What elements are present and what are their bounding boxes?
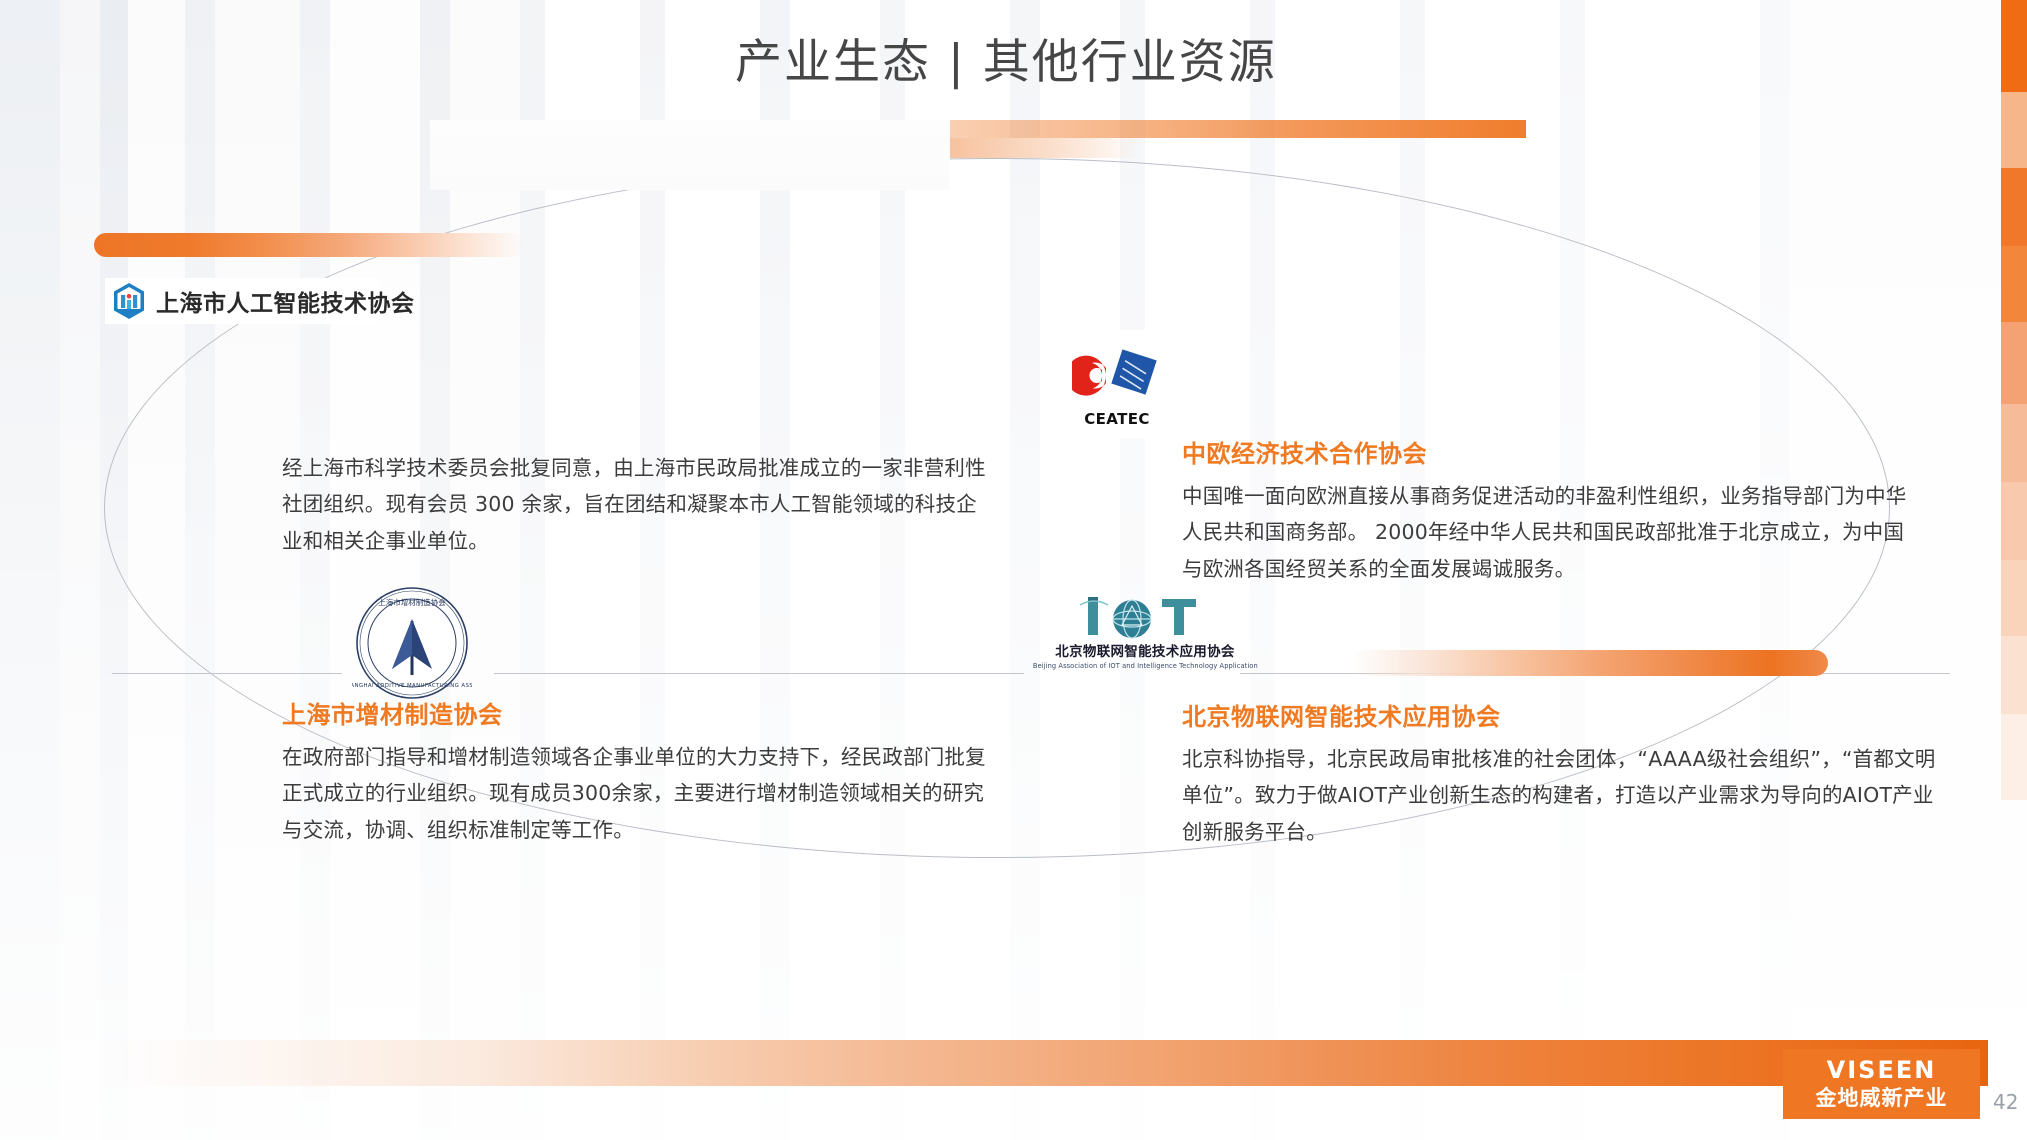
ceatec-logo-text: CEATEC [1084, 410, 1150, 428]
card-heading: 上海市增材制造协会 [282, 695, 994, 730]
right-accent-pill [1352, 650, 1828, 676]
card-body-text: 北京科协指导，北京民政局审批核准的社会团体，“AAAA级社会组织”，“首都文明单… [1182, 741, 1942, 850]
ceatec-logo: CEATEC [1063, 330, 1171, 438]
svg-text:上海市增材制造协会: 上海市增材制造协会 [378, 597, 446, 607]
right-edge-accent-bar [2001, 0, 2027, 800]
shanghai-additive-manufacturing-logo: 上海市增材制造协会 SHANGHAI ADDITIVE MANUFACTURIN… [352, 583, 472, 703]
divider-left-2 [494, 673, 1024, 674]
beijing-iot-association-logo: 北京物联网智能技术应用协会 Beijing Association of IOT… [1052, 595, 1238, 673]
shanghai-ai-association-logo-text: 上海市人工智能技术协会 [156, 284, 415, 318]
card-shanghai-additive-manufacturing: 上海市增材制造协会 在政府部门指导和增材制造领域各企事业单位的大力支持下，经民政… [282, 695, 994, 848]
card-heading: 中欧经济技术合作协会 [1182, 434, 1924, 469]
shanghai-ai-association-logo: 上海市人工智能技术协会 [105, 278, 380, 324]
beijing-iot-association-logo-en: Beijing Association of IOT and Intellige… [1033, 662, 1258, 670]
card-body-text: 在政府部门指导和增材制造领域各企事业单位的大力支持下，经民政部门批复正式成立的行… [282, 739, 994, 848]
svg-text:SHANGHAI ADDITIVE MANUFACTURIN: SHANGHAI ADDITIVE MANUFACTURING ASSOC [352, 683, 472, 689]
left-accent-pill [94, 233, 524, 257]
page-title: 产业生态 | 其他行业资源 [735, 34, 1277, 93]
slide-canvas: 产业生态 | 其他行业资源 上海市人工智能技术协会 经上海市科学技术委员会批复同… [0, 0, 2027, 1140]
beijing-iot-association-logo-cn: 北京物联网智能技术应用协会 [1055, 640, 1234, 660]
ceatec-mark-icon [1072, 344, 1162, 408]
page-number: 42 [1993, 1090, 2018, 1114]
card-beijing-iot-association: 北京物联网智能技术应用协会 北京科协指导，北京民政局审批核准的社会团体，“AAA… [1182, 697, 1942, 850]
divider-left [112, 673, 342, 674]
card-shanghai-ai-association: 经上海市科学技术委员会批复同意，由上海市民政局批准成立的一家非营利性社团组织。现… [282, 450, 994, 559]
ellipse-top-mask [430, 120, 950, 190]
card-china-eu-association: 中欧经济技术合作协会 中国唯一面向欧洲直接从事商务促进活动的非盈利性组织，业务指… [1182, 434, 1924, 587]
card-body-text: 中国唯一面向欧洲直接从事商务促进活动的非盈利性组织，业务指导部门为中华人民共和国… [1182, 478, 1924, 587]
brand-logo: VISEEN 金地威新产业 [1783, 1049, 1980, 1119]
brand-logo-en: VISEEN [1827, 1058, 1937, 1083]
iot-globe-icon [1070, 595, 1220, 639]
card-heading: 北京物联网智能技术应用协会 [1182, 697, 1942, 732]
card-body-text: 经上海市科学技术委员会批复同意，由上海市民政局批准成立的一家非营利性社团组织。现… [282, 450, 994, 559]
brand-logo-cn: 金地威新产业 [1816, 1086, 1948, 1110]
bottom-accent-bar [108, 1040, 1988, 1086]
hexagon-shield-icon [112, 282, 146, 320]
